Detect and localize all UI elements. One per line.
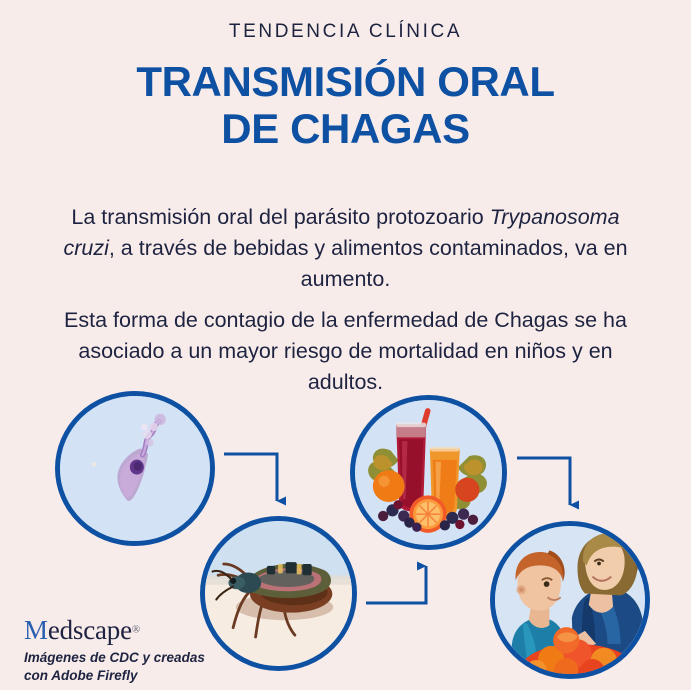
medscape-logo[interactable]: Medscape® [24, 617, 140, 644]
image-credit-line-1: Imágenes de CDC y creadas [24, 649, 234, 667]
triatomine-bug-photo [205, 521, 352, 666]
registered-trademark-icon: ® [132, 624, 140, 636]
arrow-triatomine-to-juice [366, 566, 426, 603]
transmission-cycle-diagram [0, 0, 691, 690]
arrow-juice-to-people [517, 458, 570, 505]
medscape-logo-rest: edscape [48, 615, 132, 645]
diagram-node-triatomine [200, 516, 357, 671]
child-and-adult-with-fruit [495, 526, 645, 674]
medscape-logo-m: M [24, 615, 48, 645]
diagram-node-parasite [55, 391, 215, 546]
trypanosoma-cruzi-micrograph [60, 396, 210, 541]
diagram-node-juice [350, 395, 507, 550]
image-credit-line-2: con Adobe Firefly [24, 667, 234, 685]
arrow-parasite-to-triatomine [224, 454, 277, 501]
image-credit: Imágenes de CDC y creadas con Adobe Fire… [24, 649, 234, 685]
contaminated-juice-fruit [355, 400, 502, 545]
medscape-wordmark: Medscape [24, 615, 132, 645]
diagram-node-people [490, 521, 650, 679]
infographic-card: TENDENCIA CLÍNICA TRANSMISIÓN ORAL DE CH… [0, 0, 691, 690]
